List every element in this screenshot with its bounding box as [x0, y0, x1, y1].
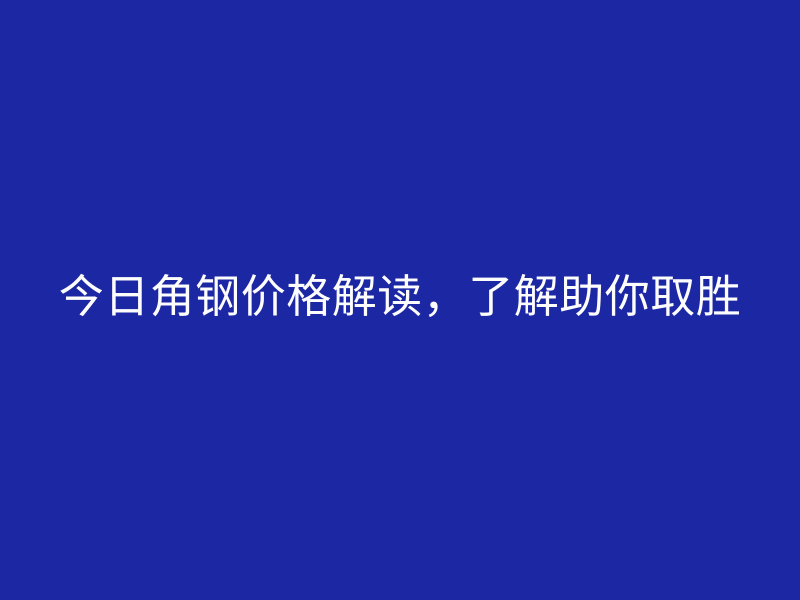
headline-text: 今日角钢价格解读，了解助你取胜 — [59, 273, 742, 320]
headline-container: 今日角钢价格解读，了解助你取胜 — [0, 263, 800, 331]
banner-background: 今日角钢价格解读，了解助你取胜 — [0, 0, 800, 600]
